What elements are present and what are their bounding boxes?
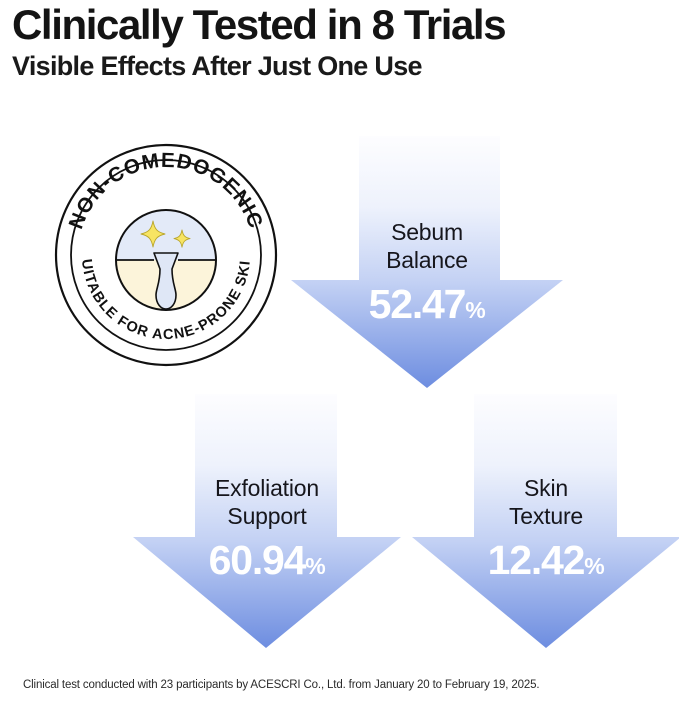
stat-arrow-skin-texture: Skin Texture 12.42% — [410, 394, 679, 650]
non-comedogenic-badge: NON-COMEDOGENIC SUITABLE FOR ACNE-PRONE … — [54, 143, 278, 367]
arrow-shape — [291, 136, 563, 388]
stat-arrow-sebum-balance: Sebum Balance 52.47% — [291, 136, 563, 391]
header: Clinically Tested in 8 Trials Visible Ef… — [12, 2, 672, 82]
footnote-disclaimer: Clinical test conducted with 23 particip… — [23, 679, 663, 691]
page-subtitle: Visible Effects After Just One Use — [12, 51, 672, 82]
stat-arrow-exfoliation-support: Exfoliation Support 60.94% — [131, 394, 403, 650]
arrow-shape — [412, 394, 679, 648]
page-title: Clinically Tested in 8 Trials — [12, 2, 672, 47]
arrow-shape — [133, 394, 401, 648]
